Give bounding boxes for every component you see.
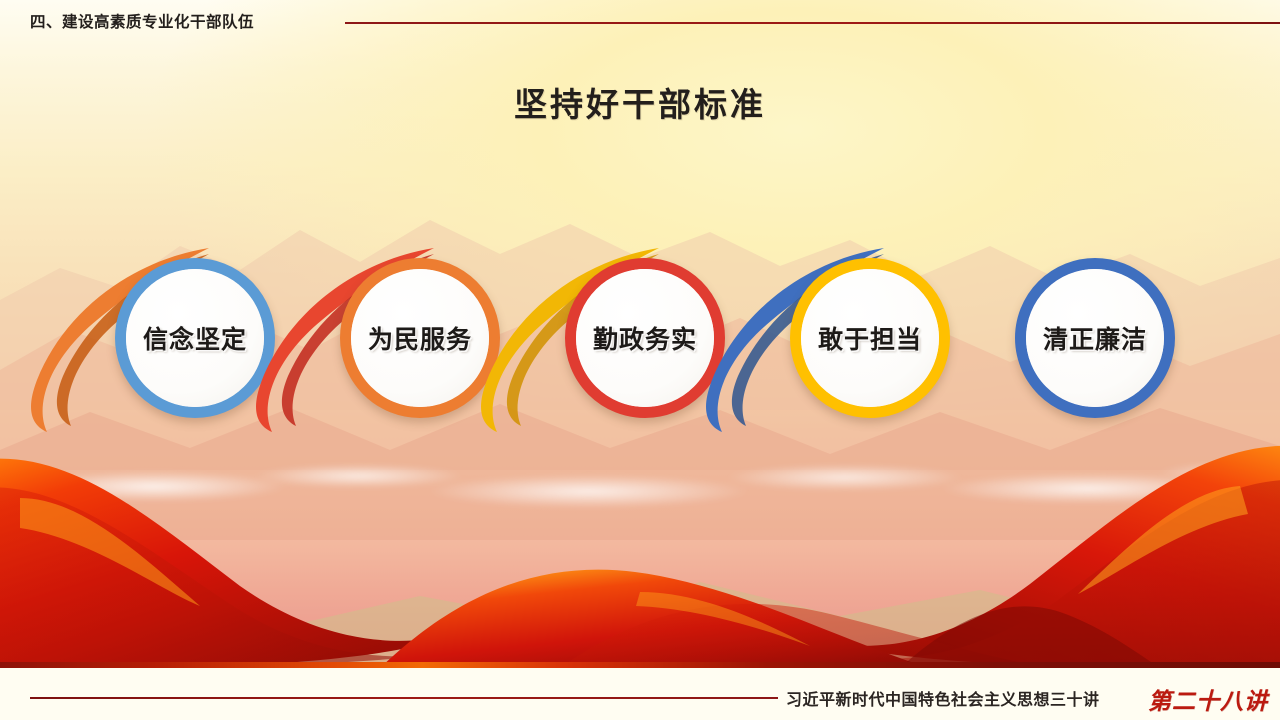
footer-bar: 习近平新时代中国特色社会主义思想三十讲 第二十八讲 (0, 668, 1280, 720)
header-bar: 四、建设高素质专业化干部队伍 (0, 0, 1280, 46)
criteria-label-2: 为民服务 (368, 320, 472, 356)
circle-face-5: 清正廉洁 (1026, 269, 1164, 407)
circle-ring-5[interactable]: 清正廉洁 (1015, 258, 1175, 418)
footer-divider-line (30, 697, 778, 699)
slide-canvas: 四、建设高素质专业化干部队伍 坚持好干部标准 信念坚定 (0, 0, 1280, 720)
criteria-node-4[interactable]: 敢于担当 (770, 238, 970, 438)
footer-series-title: 习近平新时代中国特色社会主义思想三十讲 (786, 686, 1100, 710)
page-title: 坚持好干部标准 (0, 78, 1280, 126)
criteria-node-5[interactable]: 清正廉洁 (995, 238, 1195, 438)
criteria-label-3: 勤政务实 (593, 320, 697, 356)
section-title: 四、建设高素质专业化干部队伍 (30, 10, 254, 32)
circle-face-4: 敢于担当 (801, 269, 939, 407)
criteria-label-5: 清正廉洁 (1043, 320, 1147, 356)
criteria-label-4: 敢于担当 (818, 320, 922, 356)
criteria-label-1: 信念坚定 (143, 320, 247, 356)
header-divider-line (345, 22, 1280, 24)
circle-ring-4[interactable]: 敢于担当 (790, 258, 950, 418)
footer-lesson-number: 第二十八讲 (1148, 682, 1268, 716)
criteria-circles-row: 信念坚定 为民服务 (0, 238, 1280, 448)
